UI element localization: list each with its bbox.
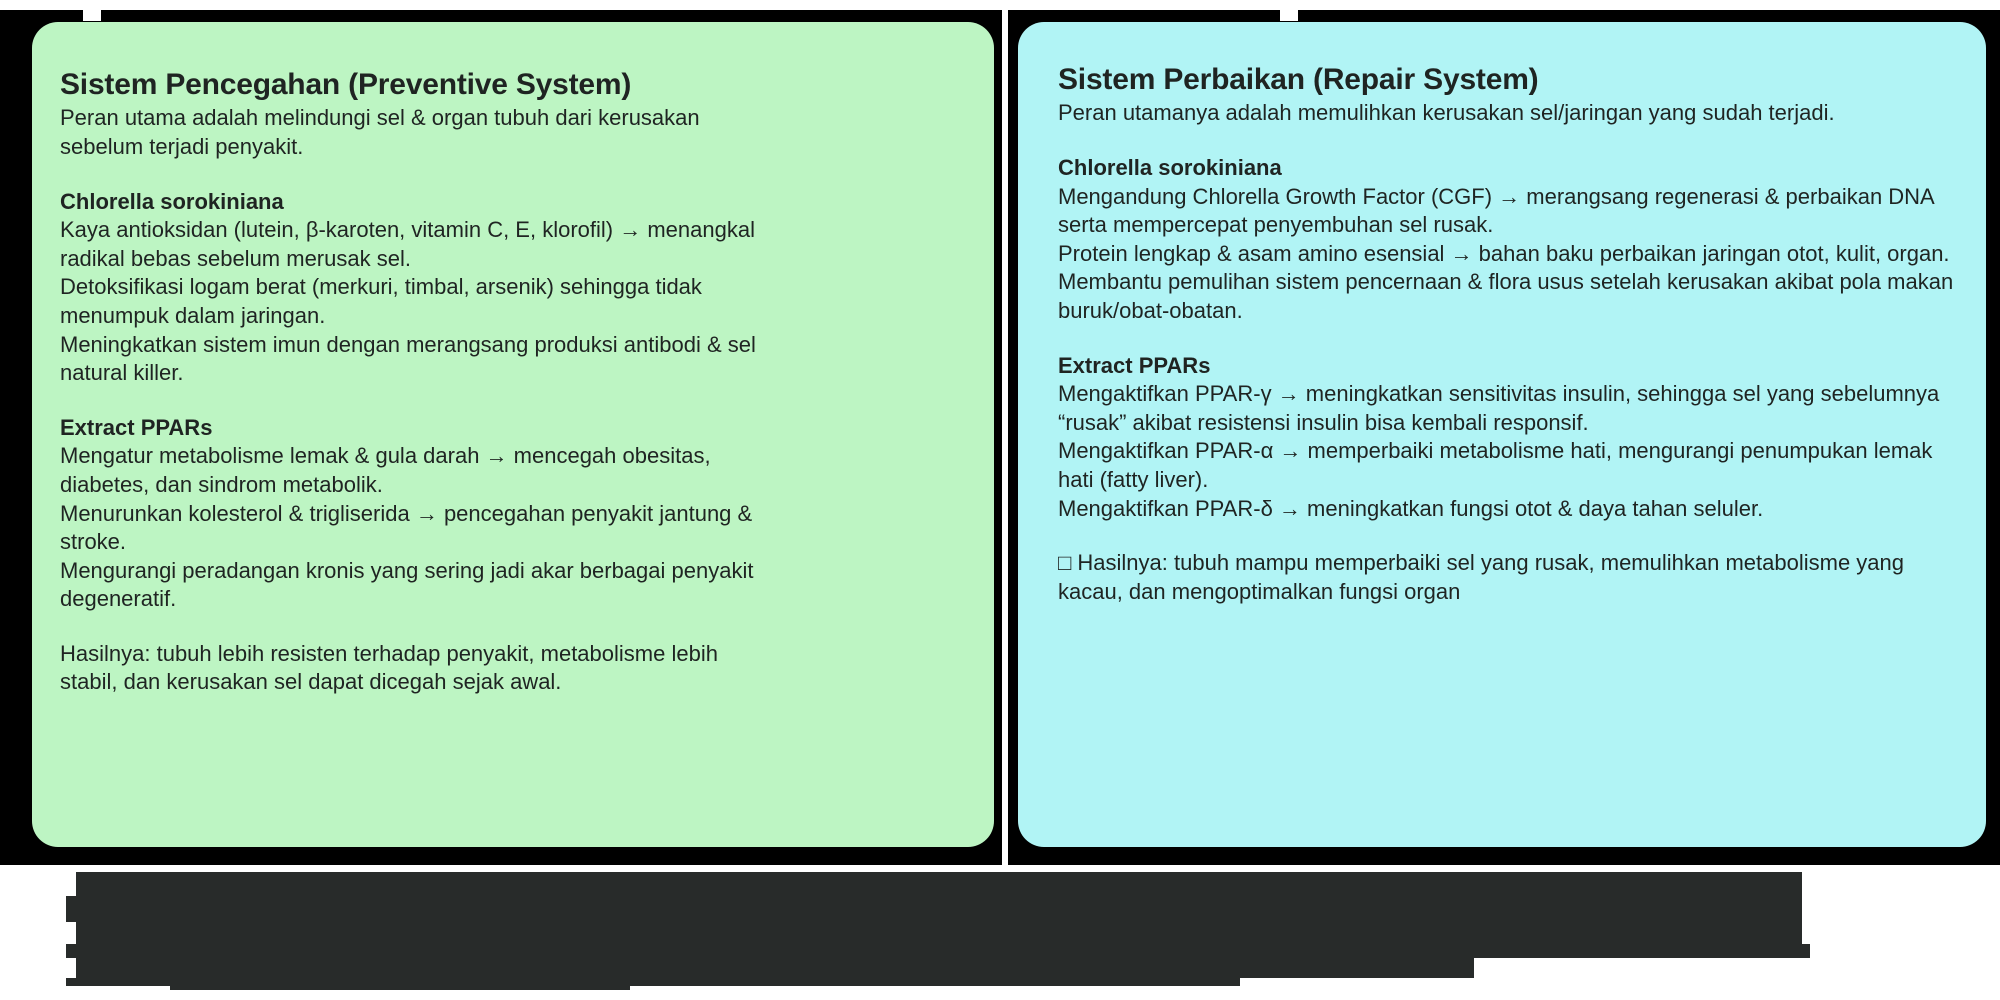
repair-chlorella-line-2: Protein lengkap & asam amino esensial → … [1058,240,1966,269]
panel-row: Sistem Pencegahan (Preventive System) Pe… [0,0,2000,870]
repair-section-heading-chlorella: Chlorella sorokiniana [1058,154,1966,183]
preventive-chlorella-line-2: Detoksifikasi logam berat (merkuri, timb… [60,273,760,330]
repair-ppars-line-3: Mengaktifkan PPAR-δ → meningkatkan fungs… [1058,495,1966,524]
preventive-ppars-line-2: Menurunkan kolesterol & trigliserida → p… [60,500,760,557]
preventive-system-lead: Peran utama adalah melindungi sel & orga… [60,104,760,161]
repair-chlorella-line-3: Membantu pemulihan sistem pencernaan & f… [1058,268,1966,325]
repair-system-body: Sistem Perbaikan (Repair System) Peran u… [1018,22,1986,847]
preventive-chlorella-line-1: Kaya antioksidan (lutein, β-karoten, vit… [60,216,760,273]
repair-conclusion: □ Hasilnya: tubuh mampu memperbaiki sel … [1058,549,1966,606]
right-frame-notch [1280,10,1298,21]
preventive-conclusion: Hasilnya: tubuh lebih resisten terhadap … [60,640,760,697]
preventive-system-body: Sistem Pencegahan (Preventive System) Pe… [32,22,994,847]
preventive-system-title: Sistem Pencegahan (Preventive System) [60,67,968,102]
spacer [1058,523,1966,549]
repair-ppars-line-1: Mengaktifkan PPAR-γ → meningkatkan sensi… [1058,380,1966,437]
left-panel-frame: Sistem Pencegahan (Preventive System) Pe… [0,10,1002,865]
redacted-line [66,944,1810,958]
repair-system-card[interactable]: Sistem Perbaikan (Repair System) Peran u… [1018,22,1986,847]
slide-canvas: Sistem Pencegahan (Preventive System) Pe… [0,0,2000,1000]
spacer [1058,326,1966,352]
redacted-line [66,896,1802,922]
spacer [60,614,968,640]
left-frame-notch [83,10,101,21]
preventive-chlorella-line-3: Meningkatkan sistem imun dengan merangsa… [60,331,760,388]
spacer [60,162,968,188]
preventive-ppars-line-1: Mengatur metabolisme lemak & gula darah … [60,442,760,499]
spacer [1058,128,1966,154]
right-panel-frame: Sistem Perbaikan (Repair System) Peran u… [1008,10,2000,865]
repair-section-heading-ppars: Extract PPARs [1058,352,1966,381]
redacted-line [76,958,1474,978]
redacted-line [76,922,1802,944]
preventive-section-heading-ppars: Extract PPARs [60,414,968,443]
repair-ppars-line-2: Mengaktifkan PPAR-α → memperbaiki metabo… [1058,437,1966,494]
redacted-line [76,872,1802,896]
spacer [60,388,968,414]
preventive-system-card[interactable]: Sistem Pencegahan (Preventive System) Pe… [32,22,994,847]
redacted-line [170,978,630,990]
repair-system-title: Sistem Perbaikan (Repair System) [1058,62,1966,97]
repair-chlorella-line-1: Mengandung Chlorella Growth Factor (CGF)… [1058,183,1966,240]
redacted-text-block [0,868,2000,1000]
repair-system-lead: Peran utamanya adalah memulihkan kerusak… [1058,99,1966,128]
preventive-section-heading-chlorella: Chlorella sorokiniana [60,188,968,217]
preventive-ppars-line-3: Mengurangi peradangan kronis yang sering… [60,557,760,614]
